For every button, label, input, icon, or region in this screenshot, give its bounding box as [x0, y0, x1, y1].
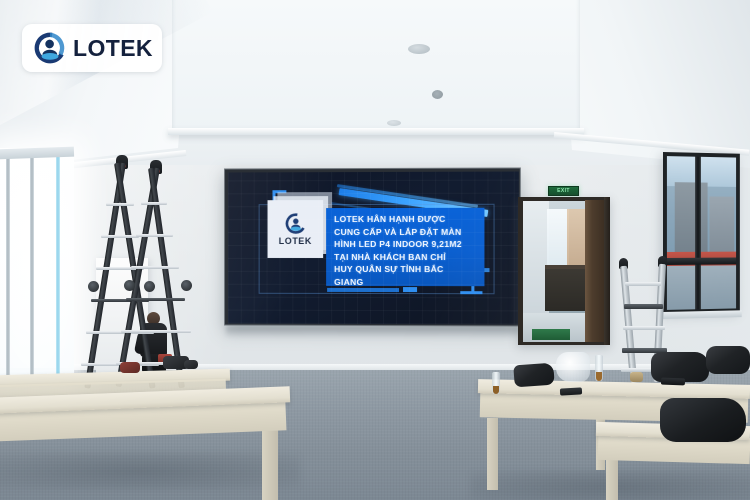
led-message-line: LOTEK HÂN HẠNH ĐƯỢC — [334, 213, 478, 226]
window-mullion — [56, 152, 60, 380]
ceiling-tray-inner — [172, 0, 580, 132]
window-mullion — [6, 152, 10, 380]
led-accent-bar — [403, 287, 417, 292]
photo-canvas: LOTEK LOTEK HÂN HẠNH ĐƯỢC CUNG CẤP VÀ LẮ… — [0, 0, 750, 500]
lotek-logo-badge: LOTEK — [22, 24, 162, 72]
mobile-phone — [661, 378, 685, 386]
slide-card-wordmark: LOTEK — [279, 236, 312, 246]
corridor-warm-wall — [567, 209, 585, 271]
ladder-rung — [625, 282, 661, 286]
led-message-line: HUY QUÂN SỰ TỈNH BẮC — [334, 263, 478, 276]
ladder-hinge — [181, 280, 192, 291]
ladder-hinge — [88, 281, 99, 292]
led-wall-shadow — [226, 326, 520, 338]
duffel-bag — [660, 398, 746, 442]
led-screen-surface: LOTEK LOTEK HÂN HẠNH ĐƯỢC CUNG CẤP VÀ LẮ… — [228, 172, 519, 325]
led-video-wall: LOTEK LOTEK HÂN HẠNH ĐƯỢC CUNG CẤP VÀ LẮ… — [224, 167, 521, 326]
table-shadow — [0, 452, 300, 490]
ladder-rung — [121, 330, 191, 333]
table-leg — [262, 430, 278, 500]
led-message-line: HÌNH LED P4 INDOOR 9,21M2 — [334, 238, 478, 251]
window-mullion — [695, 157, 701, 310]
tool-case — [120, 362, 140, 373]
ladder-rung — [126, 298, 185, 301]
smoke-detector-icon — [432, 90, 443, 99]
led-accent-bar — [327, 288, 399, 292]
bottle — [492, 372, 500, 394]
exit-sign-label: EXIT — [557, 188, 570, 194]
floor-mat — [532, 329, 570, 340]
led-message-line: TẠI NHÀ KHÁCH BAN CHỈ — [334, 251, 478, 264]
exit-sign: EXIT — [548, 186, 579, 196]
mobile-phone — [560, 387, 582, 395]
window-glare — [0, 168, 74, 368]
open-doorway — [518, 197, 610, 345]
led-message-block: LOTEK HÂN HẠNH ĐƯỢC CUNG CẤP VÀ LẮP ĐẶT … — [326, 208, 484, 286]
corner-tick — [460, 291, 482, 294]
lotek-person-circle-icon — [285, 213, 306, 234]
ladder-rung — [624, 304, 663, 309]
window-mullion — [30, 152, 34, 380]
ladder-rung — [131, 266, 179, 269]
table-leg — [606, 458, 618, 500]
window-header — [0, 147, 74, 160]
door-jamb — [604, 197, 610, 345]
led-bezel: LOTEK LOTEK HÂN HẠNH ĐƯỢC CUNG CẤP VÀ LẮ… — [225, 169, 520, 326]
balcony-panel — [545, 269, 585, 311]
lotek-wordmark: LOTEK — [73, 37, 153, 60]
small-object — [630, 372, 643, 382]
left-window — [0, 148, 74, 380]
tool-box — [184, 360, 198, 369]
table-leg — [487, 418, 498, 490]
ladder-rung — [141, 202, 167, 205]
ceiling-light-icon — [408, 44, 430, 54]
step-ladder-left-front — [108, 160, 203, 390]
slide-logo-card: LOTEK — [268, 200, 324, 258]
tool-bag — [513, 363, 554, 388]
ceiling-light-icon — [387, 120, 401, 126]
led-message-line: CUNG CẤP VÀ LẮP ĐẶT MÀN — [334, 225, 478, 238]
door-leaf — [585, 200, 605, 342]
tool-bag — [706, 346, 750, 374]
lotek-person-circle-icon — [34, 32, 66, 64]
ceiling-tray-lip — [168, 128, 584, 135]
bottle — [595, 355, 603, 381]
ladder-rung — [623, 326, 665, 330]
plastic-bag — [556, 352, 590, 382]
doorway-opening — [523, 201, 585, 342]
ladder-rung — [136, 234, 173, 237]
ladder-hinge — [124, 280, 135, 291]
